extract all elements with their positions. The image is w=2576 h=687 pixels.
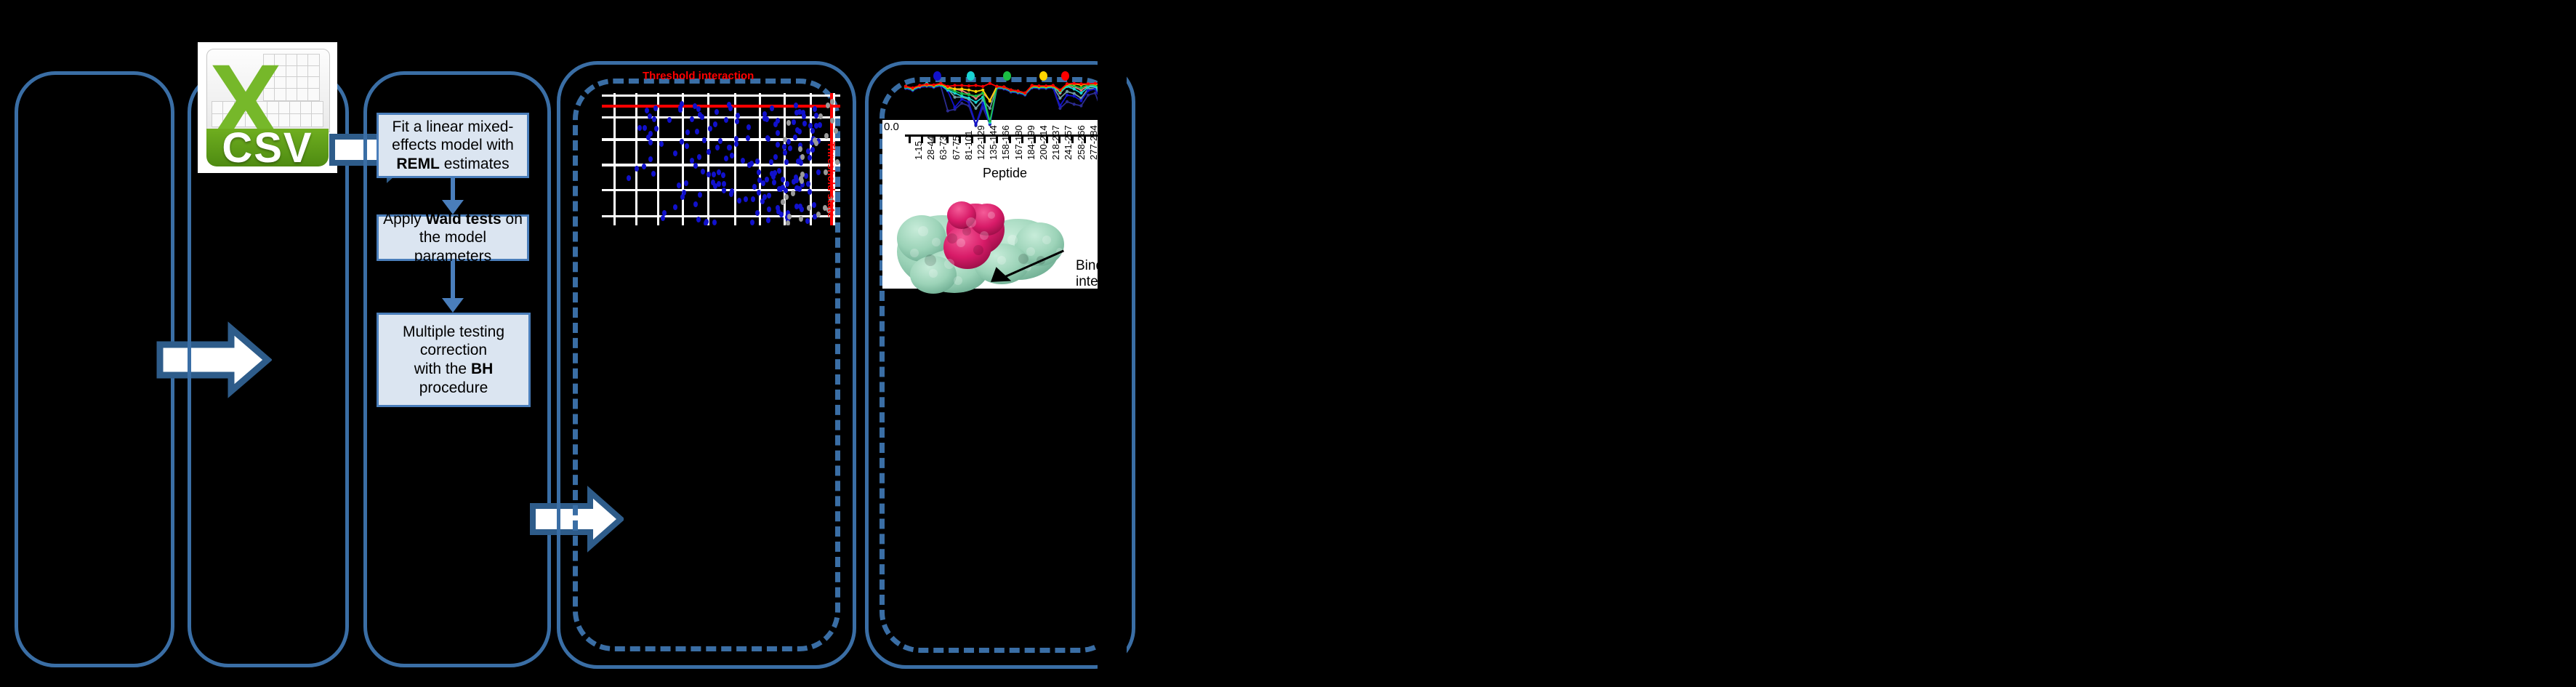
scatter-point	[696, 217, 701, 222]
scatter-point	[707, 172, 711, 177]
scatter-point	[673, 150, 677, 156]
scatter-point-grey	[799, 216, 803, 222]
scatter-point	[765, 177, 769, 182]
scatter-point	[627, 175, 631, 181]
scatter-point	[648, 113, 652, 119]
chart-data-point	[1066, 94, 1068, 97]
scatter-point	[635, 166, 639, 172]
scatter-point	[727, 102, 731, 108]
x-axis-tick-label: 67-75	[951, 136, 962, 160]
scatter-point	[715, 145, 720, 150]
scatter-point	[818, 122, 822, 128]
x-axis-tick-label: 218-237	[1050, 125, 1061, 160]
scatter-point	[772, 180, 776, 185]
x-axis-tick-label: 184-199	[1026, 125, 1037, 160]
scatter-point	[794, 103, 798, 108]
scatter-point-grey	[791, 190, 795, 196]
chart-data-point	[989, 100, 991, 103]
scatter-point	[698, 192, 702, 198]
scatter-point	[800, 206, 804, 212]
scatter-point	[735, 118, 739, 124]
scatter-point	[653, 105, 658, 111]
chart-data-point	[974, 95, 977, 97]
scatter-point	[648, 131, 653, 137]
scatter-point	[767, 193, 771, 198]
scatter-point	[707, 149, 711, 155]
legend-dot	[967, 71, 975, 81]
scatter-point	[770, 105, 774, 111]
scatter-point	[755, 210, 760, 216]
step-wald-tests[interactable]: Apply Wald tests on the model parameters	[377, 214, 529, 261]
step1-line1: Fit a linear mixed-	[392, 118, 514, 137]
scatter-title-vertical: Threshold state	[826, 142, 837, 217]
scatter-point	[781, 177, 785, 182]
chart-data-point	[1087, 94, 1090, 97]
chart-data-point	[946, 109, 949, 112]
chart-data-point	[1073, 87, 1076, 90]
chart-data-point	[1087, 89, 1090, 92]
chart-data-point	[967, 101, 970, 104]
chart-data-point	[1073, 103, 1076, 105]
scatter-point	[702, 137, 707, 143]
legend-dot	[1039, 71, 1047, 81]
scatter-point	[734, 136, 738, 142]
connector-2-head	[442, 298, 464, 313]
scatter-point	[801, 110, 805, 116]
scatter-point	[755, 158, 760, 164]
scatter-point	[797, 129, 802, 134]
scatter-point	[685, 143, 689, 149]
chart-data-point	[1079, 87, 1082, 89]
step3-line2: correction	[383, 341, 524, 360]
chart-data-point	[974, 90, 977, 93]
connector-2	[451, 261, 455, 302]
chart-data-point	[960, 97, 963, 100]
scatter-point	[651, 171, 656, 177]
x-axis-tick-label: 81-101	[963, 131, 974, 160]
chart-data-point	[1066, 100, 1068, 103]
scatter-point	[721, 172, 725, 178]
step3-line1: Multiple testing	[383, 323, 524, 342]
scatter-point-grey	[807, 205, 811, 211]
scatter-point	[805, 218, 810, 224]
figure-right-crop-mask	[1098, 61, 1127, 669]
scatter-point	[767, 206, 771, 212]
scatter-point	[704, 219, 709, 225]
scatter-title-horizontal: Threshold interaction	[643, 70, 754, 82]
scatter-point	[715, 109, 719, 115]
chart-data-point	[1079, 104, 1082, 107]
scatter-point	[637, 125, 642, 131]
scatter-point	[802, 121, 807, 126]
chart-data-point	[974, 107, 977, 110]
scatter-point	[816, 169, 821, 175]
chart-data-point	[1016, 89, 1019, 92]
scatter-point-grey	[830, 118, 834, 124]
scatter-point	[776, 118, 780, 124]
scatter-point	[701, 169, 705, 174]
scatter-point	[784, 159, 789, 165]
scatter-point	[776, 142, 780, 148]
scatter-point-grey	[786, 220, 790, 226]
y-tick-label-0: 0.0	[884, 121, 899, 133]
chart-data-point	[981, 89, 984, 92]
chart-data-point	[989, 107, 991, 110]
scatter-point-grey	[784, 194, 789, 200]
scatter-point	[808, 155, 812, 161]
chart-data-point	[989, 119, 991, 122]
threshold-line-horizontal	[602, 105, 840, 108]
scatter-point	[680, 139, 684, 145]
scatter-point	[812, 202, 816, 208]
scatter-point	[736, 113, 740, 118]
scatter-point-grey	[818, 113, 823, 119]
chart-data-point	[911, 87, 914, 89]
scatter-point	[765, 116, 769, 122]
step-fit-model[interactable]: Fit a linear mixed- effects model with R…	[377, 113, 529, 178]
step3-line3: with the BH procedure	[383, 360, 524, 397]
scatter-point	[785, 181, 789, 187]
legend-dot	[1003, 71, 1011, 81]
scatter-point	[717, 169, 721, 175]
scatter-point	[729, 191, 733, 197]
scatter-point	[804, 173, 808, 179]
chart-data-point	[967, 89, 970, 92]
scatter-point	[782, 144, 786, 150]
scatter-point	[751, 196, 755, 202]
step1-line3: REML estimates	[392, 155, 514, 174]
x-axis-tick-label: 167-180	[1013, 125, 1024, 160]
scatter-point	[693, 163, 698, 169]
scatter-point	[722, 181, 726, 187]
scatter-point	[757, 169, 761, 175]
scatter-point	[718, 138, 723, 144]
scatter-point	[724, 156, 728, 161]
scatter-point	[696, 106, 701, 112]
x-axis-tick-label: 1-15	[913, 141, 924, 160]
chart-data-point	[974, 101, 977, 104]
chart-data-point	[953, 96, 956, 99]
csv-band-label: CSV	[222, 124, 313, 172]
x-axis-tick-label: 122-129	[975, 125, 986, 160]
scatter-point	[793, 134, 797, 140]
scatter-point	[744, 196, 748, 202]
scatter-point	[766, 217, 770, 223]
scatter-point	[781, 185, 785, 190]
chart-data-point	[1066, 90, 1068, 93]
scatter-point	[667, 117, 672, 123]
x-axis-tick-label: 241-257	[1063, 125, 1074, 160]
chart-data-point	[1073, 95, 1076, 97]
scatter-point	[752, 184, 757, 190]
scatter-point	[713, 121, 717, 127]
scatter-point	[777, 168, 781, 174]
scatter-point	[794, 174, 798, 180]
panel-1-empty	[15, 71, 174, 667]
scatter-point	[697, 154, 701, 160]
scatter-point	[677, 182, 681, 188]
scatter-point-grey	[787, 214, 792, 220]
x-axis-tick-label: 135-144	[988, 125, 999, 160]
scatter-point	[717, 181, 721, 187]
x-axis-tick-label: 258-266	[1076, 125, 1087, 160]
scatter-point-grey	[834, 128, 838, 134]
scatter-point-grey	[800, 154, 805, 160]
scatter-point	[693, 201, 698, 207]
scatter-point	[685, 129, 690, 135]
scatter-point	[747, 162, 752, 168]
scatter-point	[776, 130, 780, 136]
scatter-point	[730, 153, 734, 158]
diagram-canvas: X CSV Fit a linear mixed- effects model …	[0, 0, 2576, 687]
scatter-point	[659, 141, 664, 147]
scatter-point	[792, 119, 796, 125]
scatter-point	[783, 150, 787, 156]
scatter-plot-area	[602, 93, 840, 225]
chart-data-point	[1058, 97, 1061, 100]
x-axis-tick-label: 200-214	[1038, 125, 1049, 160]
scatter-point-grey	[798, 146, 802, 152]
scatter-point	[673, 204, 677, 210]
scatter-point	[762, 194, 767, 200]
scatter-point	[750, 220, 754, 225]
scatter-point	[810, 128, 815, 134]
scatter-point	[737, 198, 741, 204]
chart-data-point	[1079, 99, 1082, 102]
scatter-point	[661, 215, 665, 221]
scatter-point	[813, 106, 817, 112]
step2-line2: the model parameters	[383, 228, 523, 265]
scatter-point	[648, 156, 653, 162]
scatter-point	[648, 140, 653, 145]
scatter-point	[757, 190, 761, 196]
chart-data-point	[1010, 89, 1013, 92]
scatter-point	[766, 136, 770, 142]
chart-data-point	[1023, 92, 1026, 95]
step-multiple-testing[interactable]: Multiple testing correction with the BH …	[377, 313, 531, 407]
chart-data-point	[953, 87, 956, 90]
scatter-point	[695, 129, 699, 134]
scatter-point	[722, 188, 726, 193]
x-axis-tick-label: 28-44	[925, 136, 936, 160]
scatter-point	[708, 126, 712, 132]
chart-data-point	[1002, 86, 1005, 89]
csv-x-letter: X	[209, 49, 282, 132]
scatter-point	[728, 145, 732, 150]
scatter-point-grey	[786, 120, 791, 126]
scatter-point	[806, 181, 810, 187]
chart-data-point	[960, 92, 963, 95]
chart-data-point	[1058, 104, 1061, 107]
chart-data-point	[967, 97, 970, 100]
chart-data-point	[1079, 92, 1082, 95]
scatter-point	[746, 135, 750, 141]
scatter-point	[645, 108, 649, 113]
scatter-point	[794, 204, 799, 209]
scatter-point-grey	[783, 137, 787, 142]
scatter-point	[810, 147, 815, 153]
scatter-point	[788, 145, 792, 151]
chart-data-point	[960, 87, 963, 90]
x-axis-title: Peptide	[983, 166, 1027, 181]
csv-file-icon: X CSV	[198, 42, 337, 173]
chart-data-point	[960, 102, 963, 105]
scatter-point	[652, 116, 656, 122]
chart-data-point	[967, 93, 970, 96]
scatter-point	[643, 125, 647, 131]
scatter-point	[680, 194, 685, 200]
scatter-point	[799, 160, 803, 166]
scatter-point	[684, 180, 688, 186]
scatter-point	[741, 158, 745, 164]
scatter-point	[734, 141, 738, 147]
scatter-point	[698, 112, 702, 118]
x-axis-tick	[909, 137, 911, 143]
scatter-point	[779, 212, 784, 217]
scatter-point	[794, 110, 799, 116]
chart-data-point	[953, 106, 956, 109]
x-axis-tick-label: 63-73	[938, 136, 949, 160]
scatter-point	[690, 116, 694, 122]
step1-line2: effects model with	[392, 136, 514, 155]
scatter-point	[794, 185, 799, 191]
scatter-point	[746, 124, 751, 130]
scatter-point-grey	[816, 212, 821, 217]
chart-legend	[895, 71, 1114, 86]
scatter-point	[724, 117, 728, 123]
chart-data-point	[1058, 89, 1061, 92]
x-axis-tick-label: 158-166	[1000, 125, 1011, 160]
scatter-point	[771, 174, 776, 180]
scatter-point	[712, 220, 717, 225]
scatter-point	[642, 164, 646, 169]
step2-line1: Apply Wald tests on	[383, 210, 523, 229]
scatter-point	[773, 154, 778, 160]
legend-dot	[1061, 71, 1069, 81]
legend-dot	[933, 71, 941, 81]
scatter-point	[712, 172, 716, 177]
